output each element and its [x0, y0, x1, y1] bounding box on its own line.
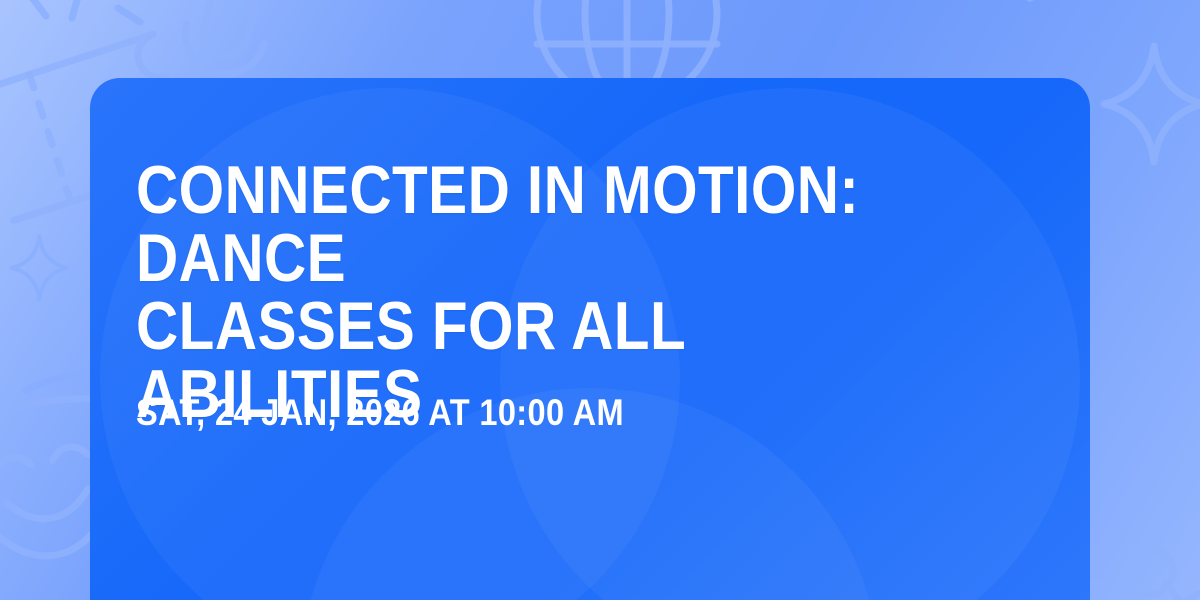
card-content: Connected in Motion: Dance Classes for A… [136, 78, 1050, 600]
event-card: Connected in Motion: Dance Classes for A… [90, 78, 1090, 600]
sparkle-icon [1104, 46, 1200, 162]
confetti-icon [30, 0, 140, 22]
event-poster: Connected in Motion: Dance Classes for A… [0, 0, 1200, 600]
lantern-icon [1143, 566, 1200, 600]
sparkle-icon [12, 236, 67, 300]
event-datetime: Sat, 24 Jan, 2026 at 10:00 AM [136, 394, 940, 431]
event-title: Connected in Motion: Dance Classes for A… [136, 156, 922, 428]
lantern-icon [1020, 0, 1196, 20]
